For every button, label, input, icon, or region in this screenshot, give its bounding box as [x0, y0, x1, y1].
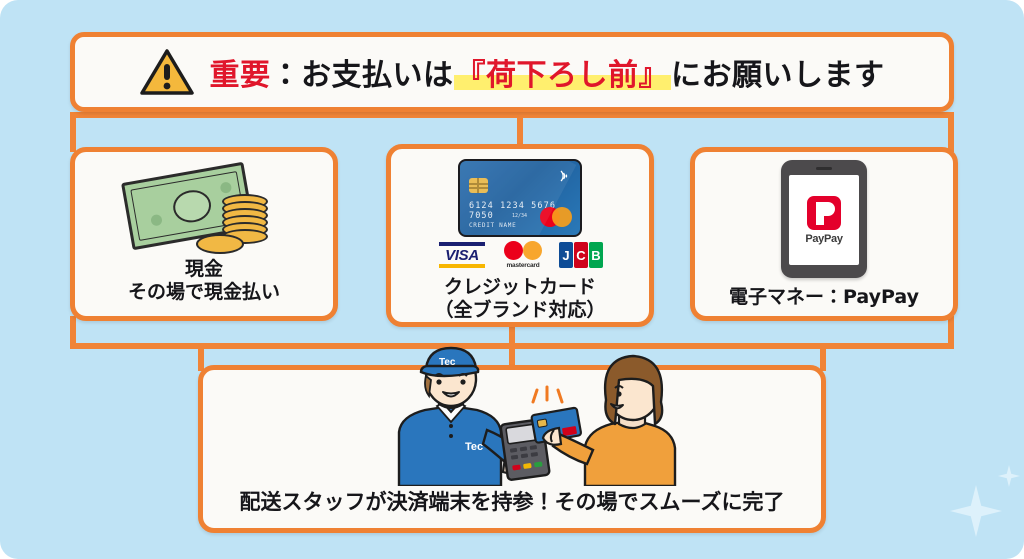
- jcb-logo-icon: J C B: [559, 242, 603, 268]
- page-title: 重要：お支払いは『荷下ろし前』にお願いします: [210, 50, 885, 94]
- mastercard-wordmark: mastercard: [501, 262, 545, 269]
- warning-triangle-icon: [140, 48, 194, 96]
- header-emphasis: 『荷下ろし前』: [454, 58, 672, 93]
- credit-label-line2: （全ブランド対応）: [434, 299, 605, 322]
- connector-right-drop: [948, 112, 954, 152]
- emoney-label-line1: 電子マネー：PayPay: [729, 286, 919, 309]
- method-card-cash[interactable]: 現金 その場で現金払い: [70, 147, 338, 321]
- visa-wordmark: VISA: [437, 247, 487, 264]
- method-card-emoney[interactable]: PayPay 電子マネー：PayPay: [690, 147, 958, 321]
- card-holder-name: CREDIT NAME: [469, 222, 516, 229]
- method-label-cash: 現金 その場で現金払い: [128, 258, 280, 304]
- cash-label-line2: その場で現金払い: [128, 281, 280, 304]
- contactless-icon: [557, 169, 571, 183]
- connector-left-rise: [70, 316, 76, 349]
- connector-center-drop: [517, 112, 523, 148]
- header-suffix: にお願いします: [671, 58, 885, 93]
- sparkle-small-icon: [998, 465, 1020, 487]
- connector-header-to-row: [70, 112, 954, 118]
- jcb-letter-c: C: [574, 242, 588, 268]
- header-prefix: 重要: [210, 58, 271, 93]
- infographic-canvas: 重要：お支払いは『荷下ろし前』にお願いします: [0, 0, 1024, 559]
- visa-logo-icon: VISA: [437, 242, 487, 268]
- delivery-staff-pos-terminal-illustration: Tec Tec: [347, 346, 677, 486]
- header-mid: お支払いは: [301, 58, 454, 93]
- method-label-emoney: 電子マネー：PayPay: [729, 286, 919, 309]
- jcb-letter-b: B: [589, 242, 603, 268]
- header-colon: ：: [271, 58, 302, 93]
- connector-footer-right-leg: [820, 343, 826, 371]
- paypay-wordmark: PayPay: [805, 233, 842, 245]
- credit-card-icon: 6124 1234 5676 7050 12/34 CREDIT NAME VI…: [420, 157, 620, 270]
- connector-right-rise: [948, 316, 954, 349]
- smartphone-paypay-icon: PayPay: [781, 160, 867, 278]
- card-expiry: 12/34: [512, 213, 527, 219]
- chip-icon: [469, 178, 488, 193]
- footer-staff-card[interactable]: Tec Tec: [198, 365, 826, 533]
- cash-label-line1: 現金: [128, 258, 280, 281]
- connector-left-drop: [70, 112, 76, 152]
- credit-label-line1: クレジットカード: [434, 276, 605, 299]
- cash-banknote-coins-icon: [124, 160, 284, 258]
- mastercard-mark-icon: [540, 207, 572, 227]
- connector-footer-left-leg: [198, 343, 204, 371]
- jcb-letter-j: J: [559, 242, 573, 268]
- svg-text:Tec: Tec: [465, 441, 483, 453]
- method-card-credit[interactable]: 6124 1234 5676 7050 12/34 CREDIT NAME VI…: [386, 144, 654, 327]
- paypay-logo-icon: [807, 196, 841, 230]
- header-notice-card: 重要：お支払いは『荷下ろし前』にお願いします: [70, 32, 954, 112]
- footer-caption: 配送スタッフが決済端末を持参！その場でスムーズに完了: [203, 486, 821, 516]
- sparkle-icon: [950, 485, 1002, 537]
- brand-logo-row: VISA mastercard J C B: [420, 241, 620, 269]
- method-label-credit: クレジットカード （全ブランド対応）: [434, 276, 605, 322]
- mastercard-logo-icon: mastercard: [501, 241, 545, 269]
- svg-text:Tec: Tec: [439, 357, 456, 368]
